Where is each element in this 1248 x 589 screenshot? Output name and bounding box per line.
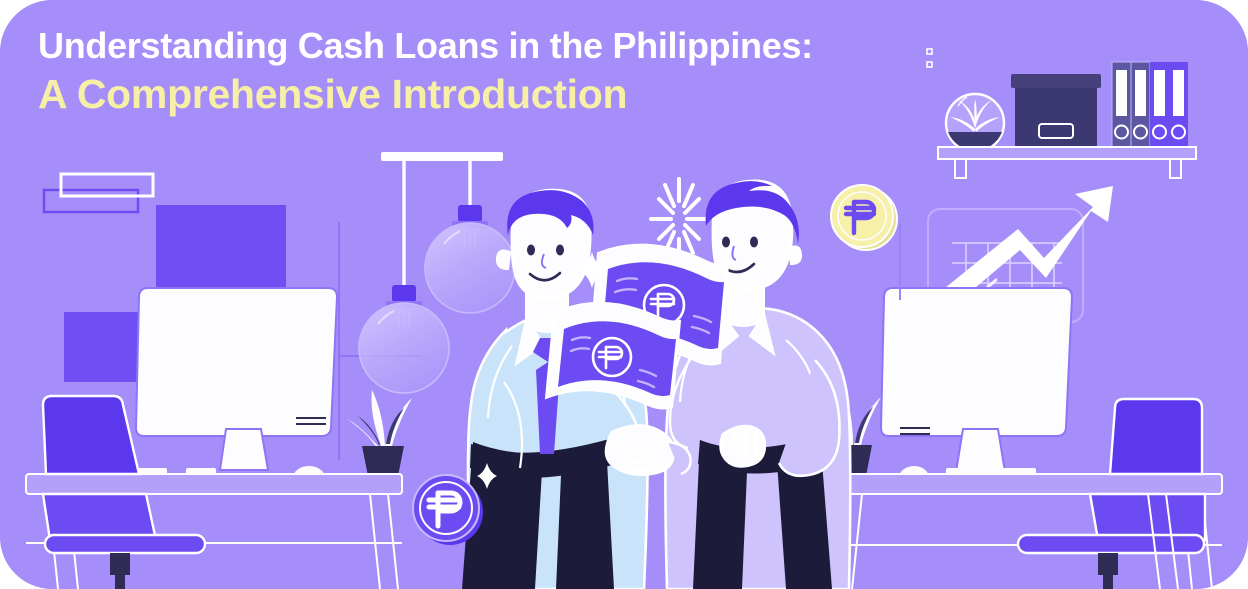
binder-group bbox=[1112, 62, 1188, 148]
office-illustration bbox=[0, 0, 1248, 589]
wall-panel-large bbox=[156, 205, 286, 297]
storage-box bbox=[1011, 74, 1101, 147]
desk-left-top bbox=[26, 474, 402, 494]
wall-panel-small bbox=[64, 312, 138, 382]
hero-banner: Understanding Cash Loans in the Philippi… bbox=[0, 0, 1248, 589]
banknote-front bbox=[546, 303, 680, 409]
person-right-hand bbox=[720, 426, 765, 467]
lamp-rail bbox=[381, 152, 503, 161]
binder-3 bbox=[1150, 62, 1169, 148]
binder-2 bbox=[1131, 62, 1150, 148]
binder-4 bbox=[1169, 62, 1188, 148]
desk-right-top bbox=[840, 474, 1222, 494]
binder-1 bbox=[1112, 62, 1131, 148]
fish-bowl-plant bbox=[946, 94, 1004, 152]
